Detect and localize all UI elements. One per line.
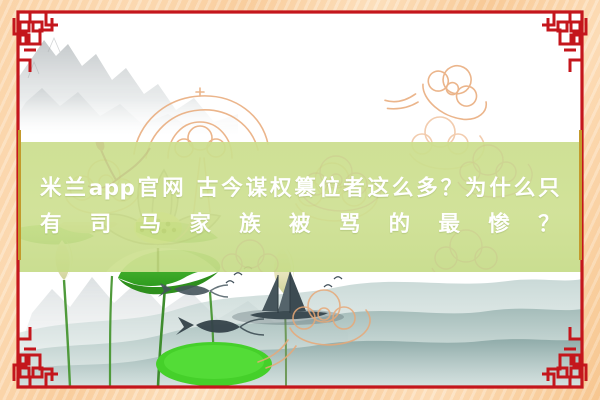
artwork-area: 米兰app官网 古今谋权篡位者这么多？为什么只 有司马家族被骂的最惨？ — [18, 12, 582, 387]
poster-title-line-2: 有司马家族被骂的最惨？ — [40, 207, 560, 243]
poster-title-line-1: 米兰app官网 古今谋权篡位者这么多？为什么只 — [40, 171, 560, 207]
poster-canvas: 米兰app官网 古今谋权篡位者这么多？为什么只 有司马家族被骂的最惨？ — [0, 0, 600, 400]
ink-wash-mountain-top-left-icon — [18, 18, 238, 138]
frame-gold-segment-right — [579, 130, 582, 260]
frame-gold-segment-left — [18, 130, 21, 260]
poster-title: 米兰app官网 古今谋权篡位者这么多？为什么只 有司马家族被骂的最惨？ — [40, 171, 560, 243]
title-band: 米兰app官网 古今谋权篡位者这么多？为什么只 有司马家族被骂的最惨？ — [18, 142, 582, 272]
